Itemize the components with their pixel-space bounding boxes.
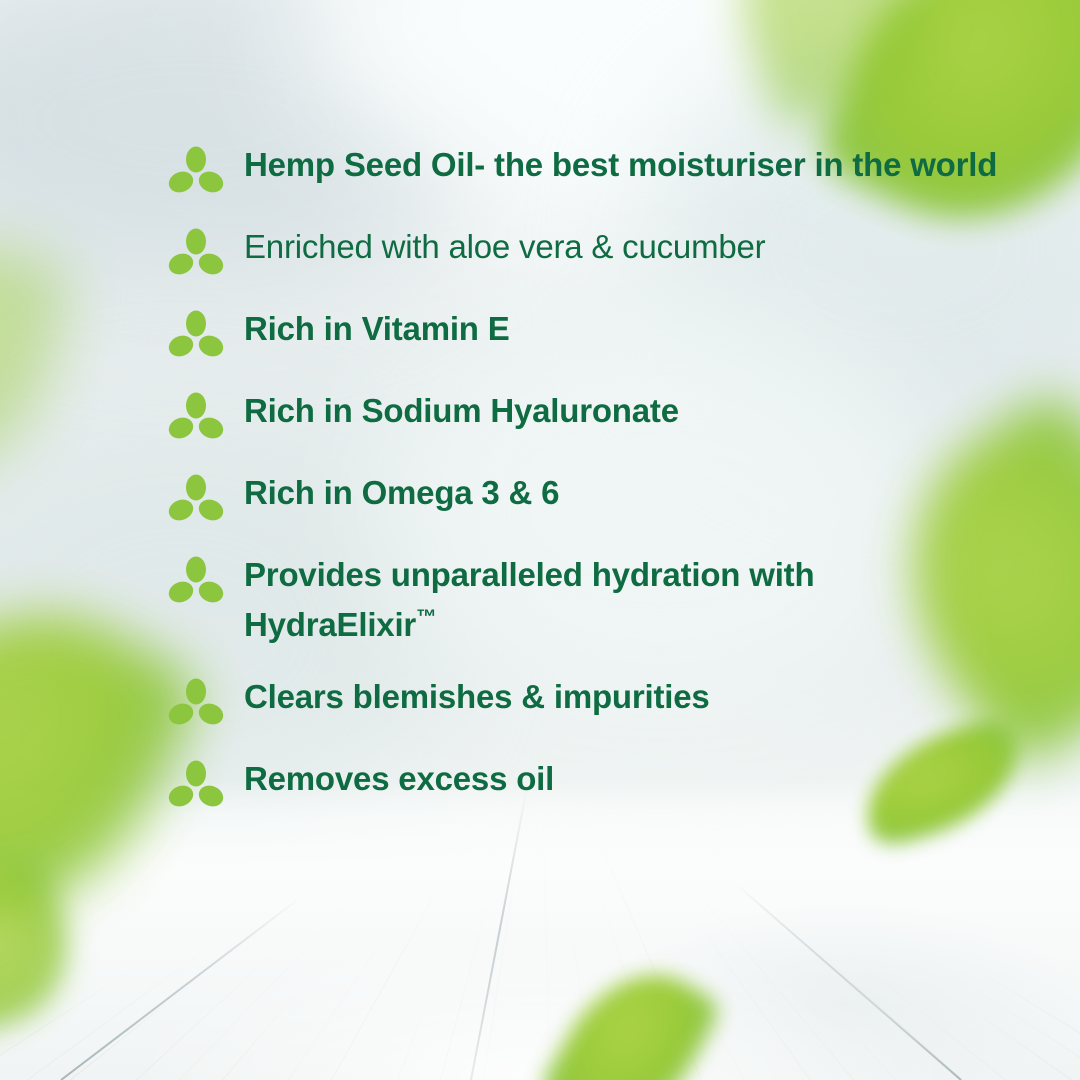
three-leaf-sprout-icon	[168, 474, 224, 528]
feature-item-label: Provides unparalleled hydration with Hyd…	[244, 550, 1008, 650]
three-leaf-sprout-icon	[168, 760, 224, 814]
feature-item-label: Clears blemishes & impurities	[244, 672, 1008, 722]
feature-item-label: Removes excess oil	[244, 754, 1008, 804]
feature-item-hydraelixir: Provides unparalleled hydration with Hyd…	[168, 550, 1008, 650]
feature-item-clears-blemishes: Clears blemishes & impurities	[168, 672, 1008, 732]
feature-item-label: Rich in Omega 3 & 6	[244, 468, 1008, 518]
feature-item-aloe-vera-cucumber: Enriched with aloe vera & cucumber	[168, 222, 1008, 282]
feature-item-label: Enriched with aloe vera & cucumber	[244, 222, 1008, 272]
feature-item-sodium-hyaluronate: Rich in Sodium Hyaluronate	[168, 386, 1008, 446]
three-leaf-sprout-icon	[168, 556, 224, 610]
wooden-deck-surface	[0, 780, 1080, 1080]
feature-item-label: Hemp Seed Oil- the best moisturiser in t…	[244, 140, 1008, 190]
feature-item-removes-excess-oil: Removes excess oil	[168, 754, 1008, 814]
feature-item-omega-3-6: Rich in Omega 3 & 6	[168, 468, 1008, 528]
trademark-symbol: ™	[416, 605, 436, 628]
three-leaf-sprout-icon	[168, 392, 224, 446]
three-leaf-sprout-icon	[168, 146, 224, 200]
deck-light-wash	[0, 780, 1080, 1080]
feature-item-vitamin-e: Rich in Vitamin E	[168, 304, 1008, 364]
three-leaf-sprout-icon	[168, 678, 224, 732]
three-leaf-sprout-icon	[168, 228, 224, 282]
feature-item-label: Rich in Sodium Hyaluronate	[244, 386, 1008, 436]
feature-benefit-list: Hemp Seed Oil- the best moisturiser in t…	[168, 140, 1008, 814]
feature-item-label: Rich in Vitamin E	[244, 304, 1008, 354]
product-benefits-banner: Hemp Seed Oil- the best moisturiser in t…	[0, 0, 1080, 1080]
three-leaf-sprout-icon	[168, 310, 224, 364]
feature-item-hemp-seed-oil: Hemp Seed Oil- the best moisturiser in t…	[168, 140, 1008, 200]
